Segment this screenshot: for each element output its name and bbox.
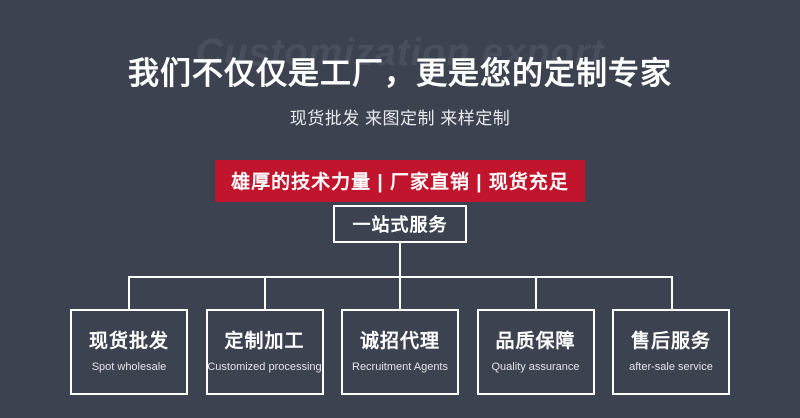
diagram-node-2: 定制加工 Customized processing [206, 309, 324, 395]
diagram-node-4-title: 品质保障 [495, 331, 575, 354]
diagram-leaf-row: 现货批发 Spot wholesale 定制加工 Customized proc… [70, 309, 730, 395]
connector-trunk-vertical [399, 243, 401, 277]
diagram-node-1-title: 现货批发 [89, 331, 169, 354]
diagram-node-4: 品质保障 Quality assurance [477, 309, 595, 395]
highlight-banner: 雄厚的技术力量 | 厂家直销 | 现货充足 [215, 160, 585, 202]
diagram-node-3-title: 诚招代理 [360, 331, 440, 354]
connector-drop-5 [671, 276, 673, 310]
connector-drop-1 [128, 276, 130, 310]
diagram-node-2-subtitle: Customized processing [207, 361, 321, 373]
diagram-node-5: 售后服务 after-sale service [612, 309, 730, 395]
page-subtitle: 现货批发 来图定制 来样定制 [0, 104, 800, 129]
diagram-root-node: 一站式服务 [333, 205, 467, 243]
diagram-node-1: 现货批发 Spot wholesale [70, 309, 188, 395]
diagram-node-5-subtitle: after-sale service [629, 361, 713, 373]
connector-drop-3 [399, 276, 401, 310]
diagram-node-3: 诚招代理 Recruitment Agents [341, 309, 459, 395]
diagram-node-1-subtitle: Spot wholesale [92, 361, 167, 373]
diagram-node-5-title: 售后服务 [631, 331, 711, 354]
diagram-node-2-title: 定制加工 [224, 331, 304, 354]
connector-drop-4 [535, 276, 537, 310]
page-title: 我们不仅仅是工厂，更是您的定制专家 [0, 48, 800, 93]
connector-drop-2 [264, 276, 266, 310]
diagram-node-4-subtitle: Quality assurance [491, 361, 579, 373]
promo-banner: Customization export 我们不仅仅是工厂，更是您的定制专家 现… [0, 0, 800, 418]
diagram-node-3-subtitle: Recruitment Agents [352, 361, 448, 373]
